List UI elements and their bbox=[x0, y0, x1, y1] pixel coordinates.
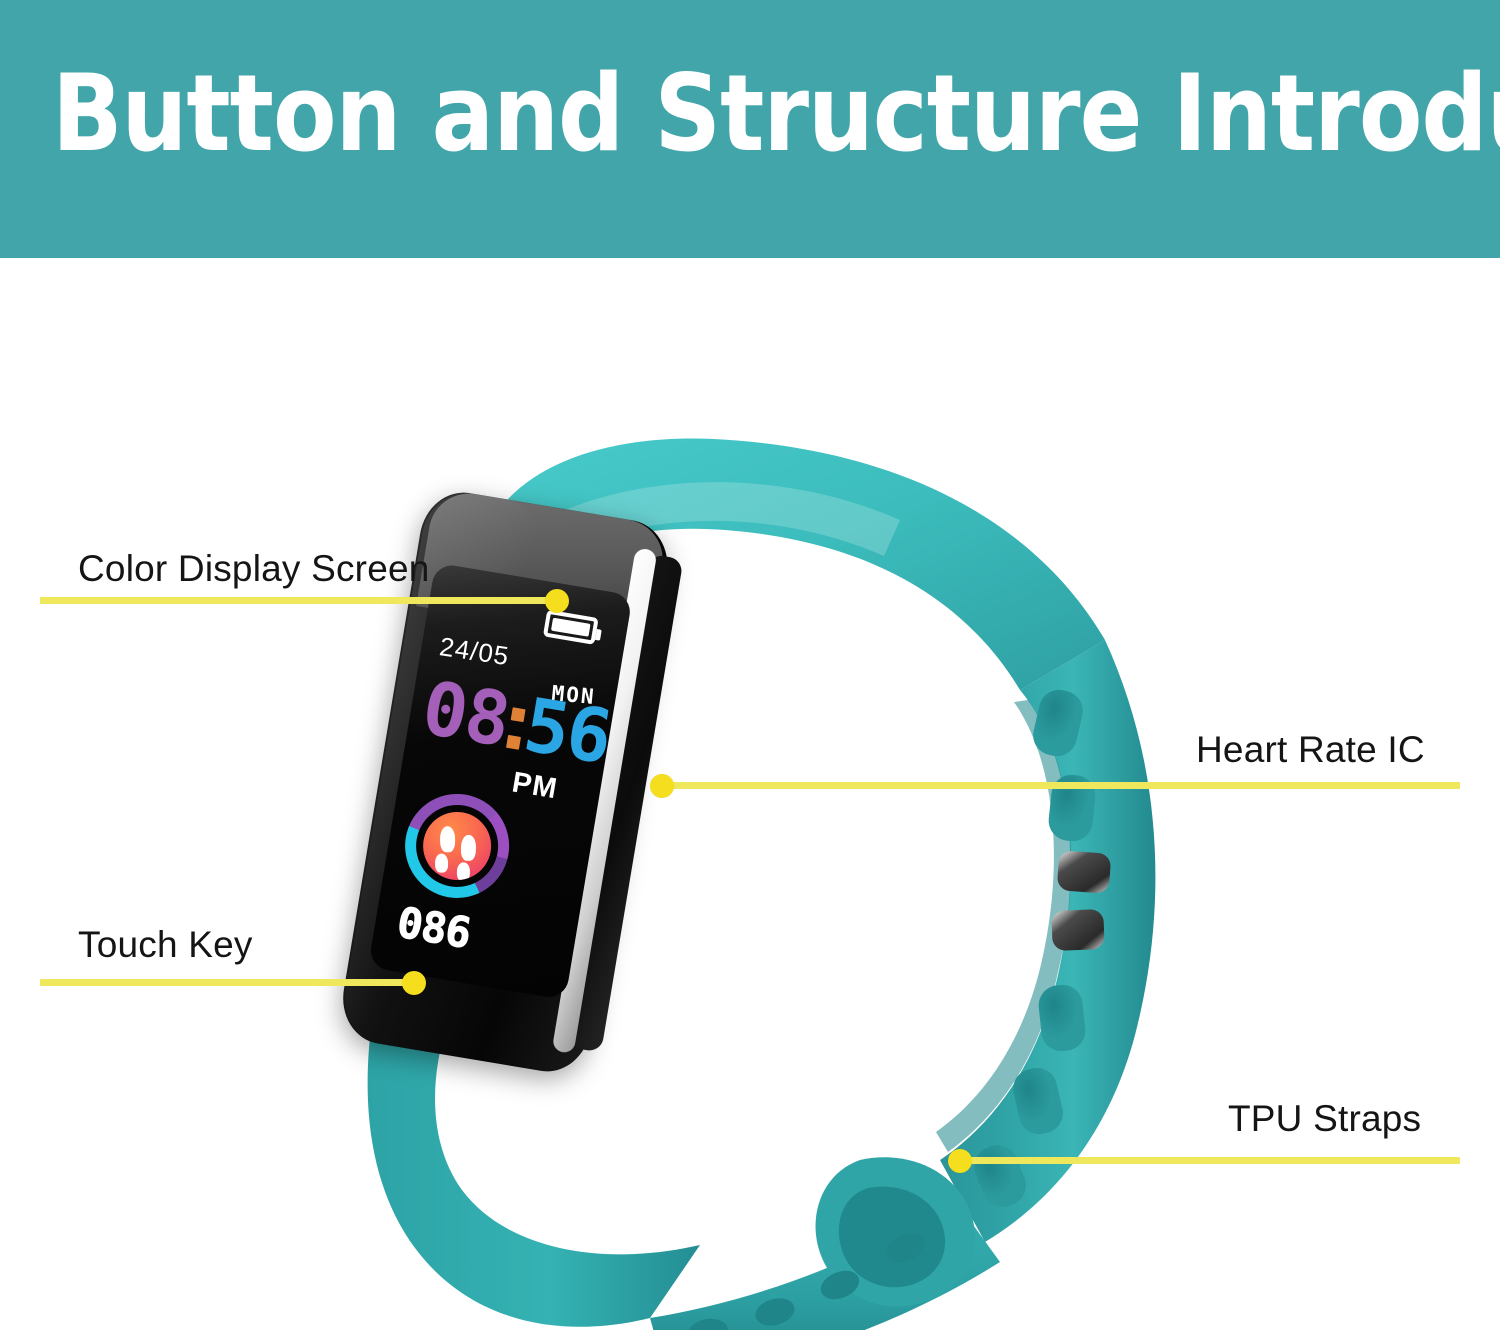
callout-leader-line-tpu-straps bbox=[955, 1157, 1460, 1164]
band-adjustment-holes bbox=[968, 686, 1097, 1213]
buckle-pins bbox=[1051, 850, 1111, 951]
screen-step-count: 086 bbox=[394, 898, 474, 958]
band-keeper-hole bbox=[839, 1187, 945, 1288]
steps-progress-ring bbox=[397, 786, 517, 906]
watch-body-top-plate bbox=[416, 488, 669, 645]
band-lower-left-arc bbox=[368, 1020, 700, 1327]
free-strap-holes bbox=[686, 1228, 929, 1330]
screen-date: 24/05 bbox=[438, 631, 512, 672]
screen-time-colon-icon bbox=[501, 685, 531, 761]
screen-time-minutes: 56 bbox=[518, 682, 616, 781]
band-right-inner-rail bbox=[936, 700, 1071, 1152]
header-banner: Button and Structure Introduction bbox=[0, 0, 1500, 258]
band-free-end bbox=[650, 1200, 1000, 1330]
screen-time: 0856 bbox=[417, 671, 615, 775]
callout-dot-color-display-screen bbox=[545, 589, 569, 613]
callout-label-heart-rate-ic: Heart Rate IC bbox=[1196, 729, 1425, 771]
band-keeper-loop bbox=[816, 1157, 975, 1306]
callout-dot-touch-key bbox=[402, 971, 426, 995]
band-right-arc bbox=[940, 640, 1155, 1242]
screen-time-hours: 08 bbox=[416, 665, 514, 764]
callout-label-touch-key: Touch Key bbox=[78, 924, 253, 966]
callout-dot-tpu-straps bbox=[948, 1149, 972, 1173]
chrome-bezel bbox=[552, 547, 658, 1054]
callout-leader-line-color-display-screen bbox=[40, 597, 556, 604]
page-title: Button and Structure Introduction bbox=[52, 54, 1410, 174]
infographic-page: Button and Structure Introduction bbox=[0, 0, 1500, 1330]
callout-dot-heart-rate-ic bbox=[650, 774, 674, 798]
screen-weekday: MON bbox=[551, 681, 597, 709]
battery-full-icon bbox=[543, 610, 599, 645]
callout-leader-line-touch-key bbox=[40, 979, 414, 986]
footprints-icon bbox=[418, 807, 496, 885]
watch-body-side bbox=[567, 554, 683, 1053]
band-highlight bbox=[560, 482, 900, 556]
callout-leader-line-heart-rate-ic bbox=[656, 782, 1460, 789]
color-display-screen[interactable]: 24/05 MON 0856 PM 086 bbox=[368, 563, 633, 1000]
callout-label-color-display-screen: Color Display Screen bbox=[78, 548, 430, 590]
band-upper-arc bbox=[470, 439, 1105, 690]
screen-meridiem: PM bbox=[510, 766, 560, 806]
callout-label-tpu-straps: TPU Straps bbox=[1228, 1098, 1421, 1140]
